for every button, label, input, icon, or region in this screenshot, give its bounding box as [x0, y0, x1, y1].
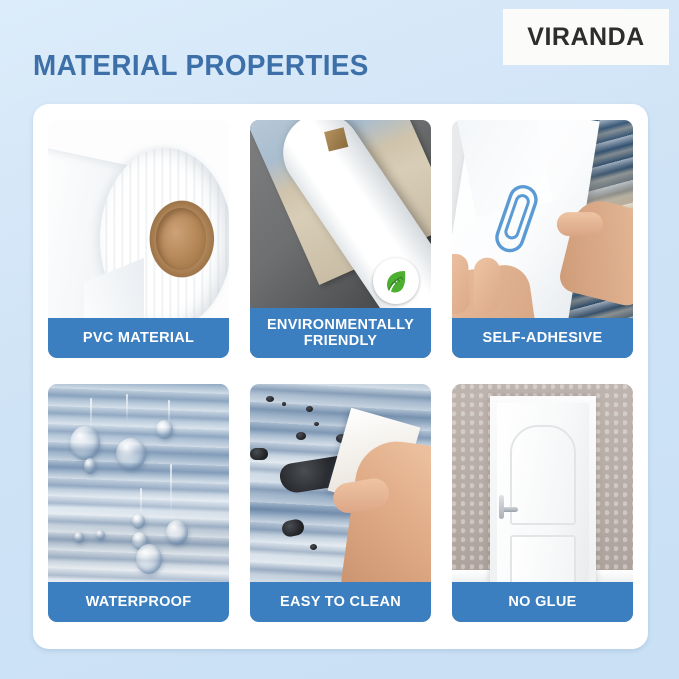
- water-droplet: [166, 520, 188, 545]
- stain-mark: [250, 448, 268, 460]
- brand-name: VIRANDA: [527, 23, 644, 52]
- stain-mark: [306, 406, 313, 412]
- feature-card-pvc-material: PVC MATERIAL: [48, 120, 229, 358]
- stain-mark: [296, 432, 306, 440]
- door-frame: [490, 396, 596, 592]
- stain-mark: [266, 396, 274, 402]
- water-droplet: [96, 530, 105, 540]
- door-handle: [502, 507, 518, 512]
- water-droplet: [70, 426, 100, 460]
- card-label-pvc-material: PVC MATERIAL: [48, 318, 229, 358]
- feature-card-easy-to-clean: EASY TO CLEAN: [250, 384, 431, 622]
- white-door: [497, 403, 589, 592]
- card-label-no-glue: NO GLUE: [452, 582, 633, 622]
- stain-mark: [310, 544, 317, 550]
- water-droplet: [132, 514, 145, 529]
- feature-card-no-glue: NO GLUE: [452, 384, 633, 622]
- water-droplet: [116, 438, 146, 470]
- drop-streak: [170, 464, 172, 516]
- drop-streak: [126, 394, 128, 422]
- card-label-waterproof: WATERPROOF: [48, 582, 229, 622]
- page-title: MATERIAL PROPERTIES: [33, 50, 369, 83]
- feature-grid: PVC MATERIAL: [48, 120, 633, 632]
- card-label-environmentally-friendly: ENVIRONMENTALLY FRIENDLY: [250, 308, 431, 358]
- water-droplet: [84, 458, 96, 474]
- feature-card-self-adhesive: SELF-ADHESIVE: [452, 120, 633, 358]
- eco-roll-tip: [324, 127, 348, 151]
- leaf-icon: [373, 258, 419, 304]
- water-droplet: [156, 420, 173, 439]
- stain-mark: [282, 402, 286, 406]
- pvc-cardboard-core: [156, 208, 206, 270]
- door-panel-top: [510, 425, 576, 525]
- card-label-self-adhesive: SELF-ADHESIVE: [452, 318, 633, 358]
- stain-mark: [314, 422, 319, 426]
- brand-logo: VIRANDA: [503, 9, 669, 65]
- feature-card-environmentally-friendly: ENVIRONMENTALLY FRIENDLY: [250, 120, 431, 358]
- drop-streak: [140, 488, 142, 518]
- card-label-easy-to-clean: EASY TO CLEAN: [250, 582, 431, 622]
- water-droplet: [74, 532, 84, 543]
- water-droplet: [136, 544, 162, 574]
- infographic-root: VIRANDA MATERIAL PROPERTIES PVC MATERIAL: [0, 0, 679, 679]
- feature-card-waterproof: WATERPROOF: [48, 384, 229, 622]
